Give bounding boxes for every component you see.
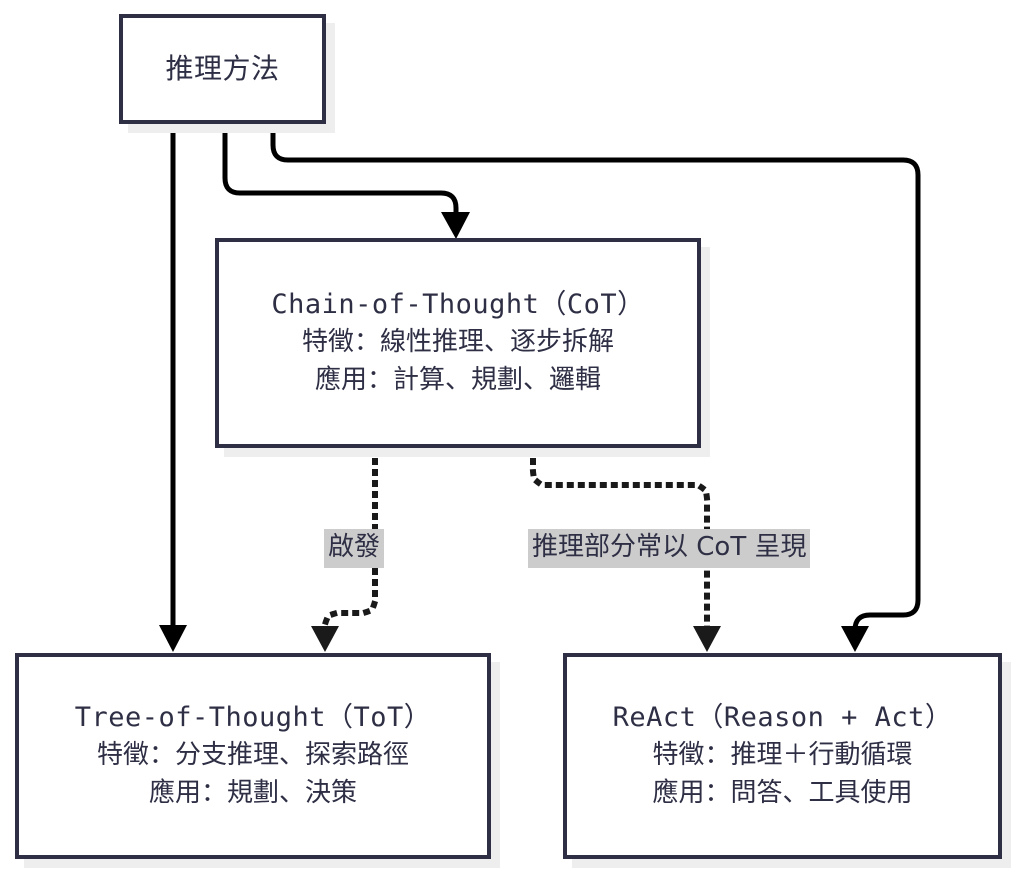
node-tree-of-thought[interactable]: Tree-of-Thought（ToT） 特徵：分支推理、探索路徑 應用：規劃、… [15,653,491,859]
edge-label-inspire: 啟發 [324,529,384,568]
node-application-line: 應用：計算、規劃、邏輯 [315,362,601,400]
node-title: 推理方法 [165,49,279,89]
node-feature-line: 特徵：推理＋行動循環 [652,737,912,775]
node-feature-line: 特徵：線性推理、逐步拆解 [302,324,614,362]
edge-label-cot-in-react: 推理部分常以 CoT 呈現 [528,529,810,568]
node-react[interactable]: ReAct（Reason + Act） 特徵：推理＋行動循環 應用：問答、工具使… [563,653,1002,859]
node-feature-line: 特徵：分支推理、探索路徑 [97,737,409,775]
edge-root-to-tot [159,124,187,652]
diagram-canvas: 推理方法 Chain-of-Thought（CoT） 特徵：線性推理、逐步拆解 … [0,0,1024,880]
node-title: Chain-of-Thought（CoT） [271,286,644,324]
node-reasoning-methods[interactable]: 推理方法 [119,14,326,124]
node-application-line: 應用：規劃、決策 [149,775,357,813]
node-application-line: 應用：問答、工具使用 [652,775,912,813]
node-title: ReAct（Reason + Act） [613,699,953,737]
node-chain-of-thought[interactable]: Chain-of-Thought（CoT） 特徵：線性推理、逐步拆解 應用：計算… [215,238,701,448]
edge-root-to-cot [225,124,470,239]
node-title: Tree-of-Thought（ToT） [75,699,432,737]
